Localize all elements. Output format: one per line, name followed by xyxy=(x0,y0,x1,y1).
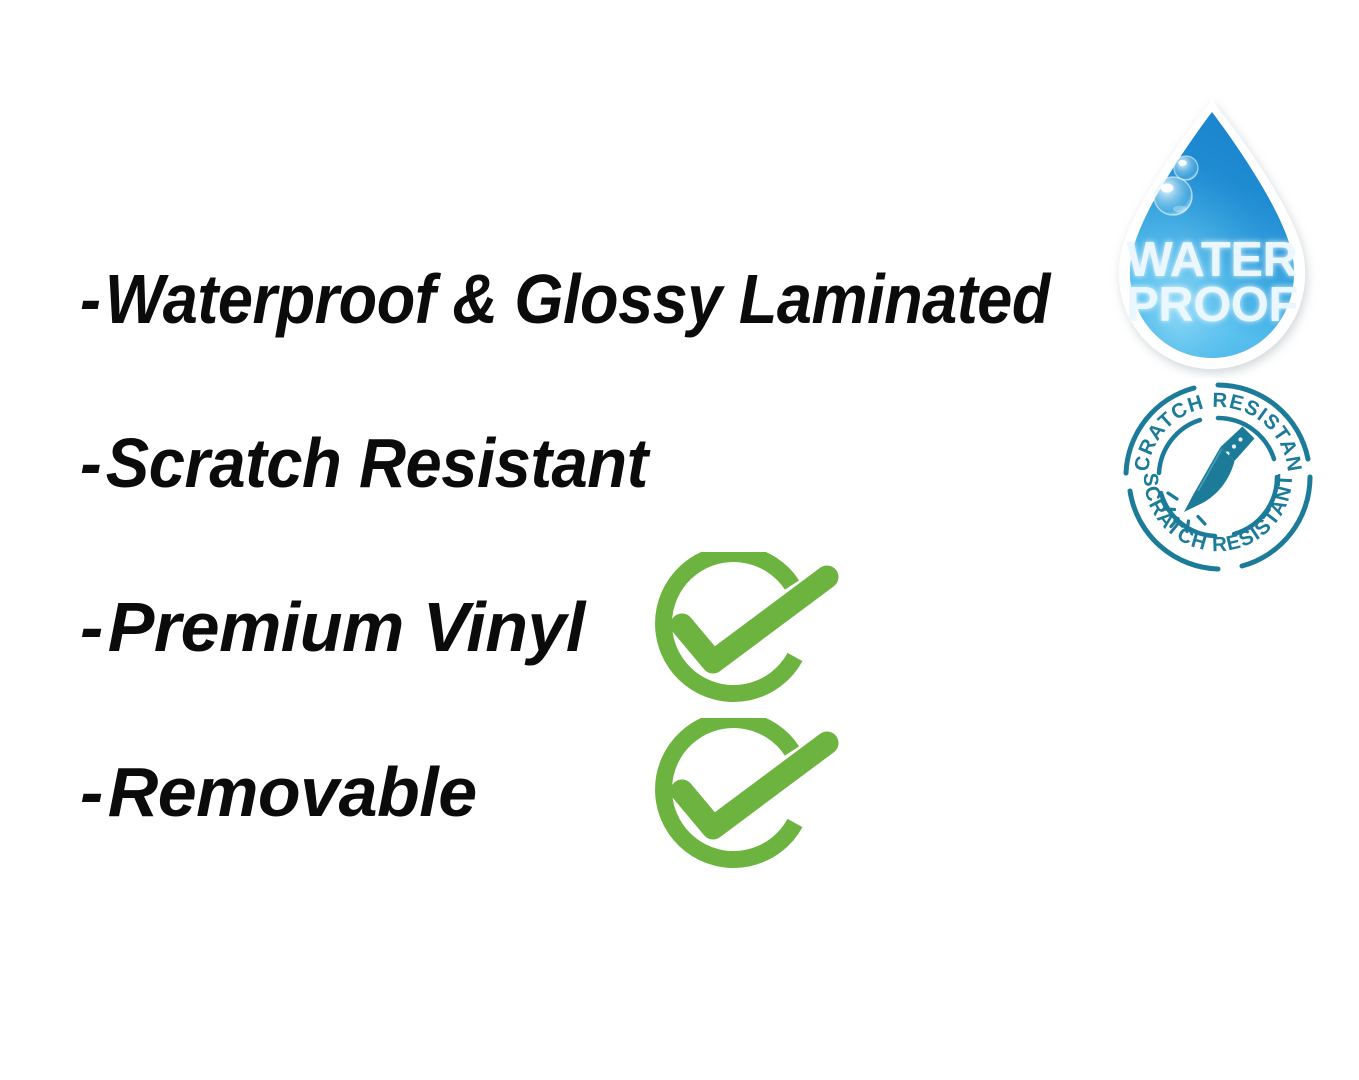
feature-label: Waterproof & Glossy Laminated xyxy=(105,260,1050,338)
feature-dash: - xyxy=(80,264,101,334)
feature-item-scratch-resistant: -Scratch Resistant xyxy=(80,428,648,498)
waterproof-text: WATER PROOF xyxy=(1126,233,1298,332)
feature-dash: - xyxy=(80,592,103,662)
knife-icon xyxy=(1164,427,1255,532)
feature-dash: - xyxy=(80,757,103,827)
water-bubble-large xyxy=(1154,177,1192,215)
feature-item-removable: -Removable xyxy=(80,757,477,827)
scratch-resistant-badge: SCRATCH RESISTANT SCRATCH RESISTANT xyxy=(1122,381,1314,573)
feature-label: Scratch Resistant xyxy=(106,424,648,502)
feature-item-premium-vinyl: -Premium Vinyl xyxy=(80,592,585,662)
feature-dash: - xyxy=(80,428,101,498)
product-feature-graphic: -Waterproof & Glossy Laminated -Scratch … xyxy=(0,0,1359,1080)
waterproof-drop-badge: WATER PROOF xyxy=(1100,96,1324,378)
feature-label: Removable xyxy=(108,753,477,831)
feature-list: -Waterproof & Glossy Laminated -Scratch … xyxy=(0,0,1100,1080)
feature-item-waterproof: -Waterproof & Glossy Laminated xyxy=(80,264,1050,334)
check-circle-icon-1 xyxy=(640,552,852,712)
check-mark xyxy=(682,743,827,828)
feature-label: Premium Vinyl xyxy=(108,588,585,666)
svg-text:PROOF: PROOF xyxy=(1126,278,1298,332)
check-mark xyxy=(682,577,827,662)
water-bubble-small xyxy=(1174,156,1198,180)
check-circle-icon-2 xyxy=(640,718,852,878)
